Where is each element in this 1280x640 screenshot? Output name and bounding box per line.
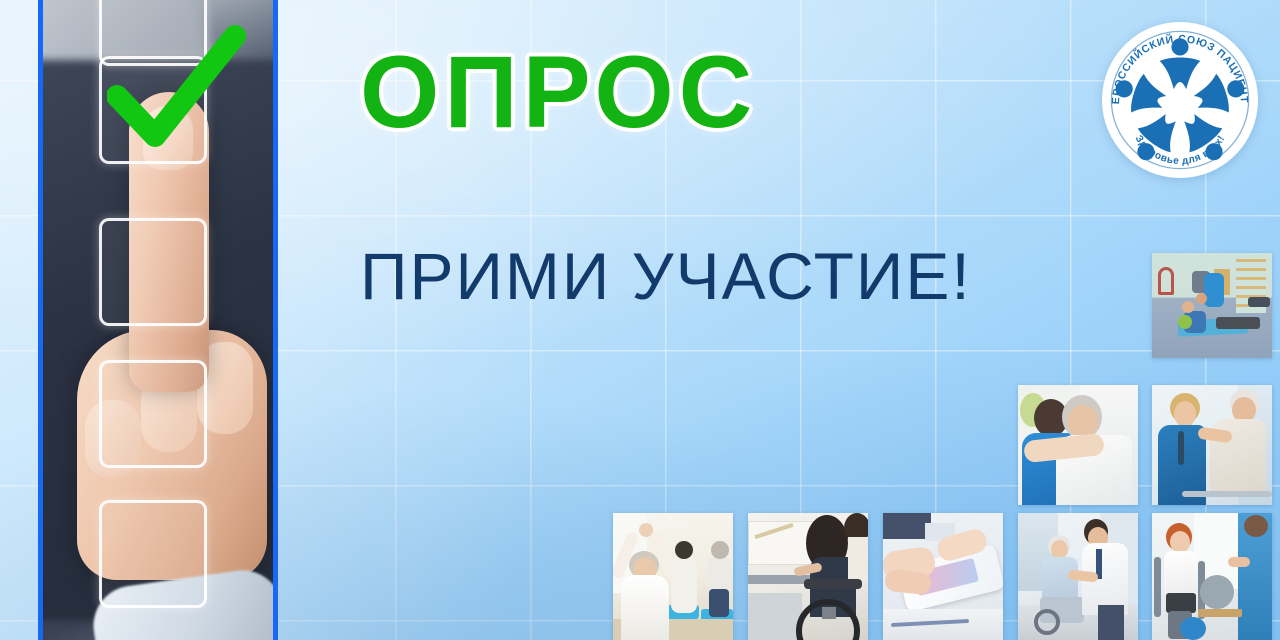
survey-checkbox-photo	[38, 0, 278, 640]
nurse-hug-photo	[1018, 385, 1138, 505]
rehab-crutches-photo	[1152, 513, 1272, 640]
physiotherapy-gym-photo	[1152, 253, 1272, 358]
checkbox-outline	[99, 500, 207, 608]
survey-banner: ОПРОС ПРИМИ УЧАСТИЕ! ВСЕРОССИЙСКИЙ СОЮЗ …	[0, 0, 1280, 640]
checkbox-outline	[99, 218, 207, 326]
wheelchair-classroom-photo	[748, 513, 868, 640]
page-subtitle: ПРИМИ УЧАСТИЕ!	[360, 238, 972, 314]
checkbox-outline	[99, 360, 207, 468]
page-title: ОПРОС	[360, 34, 757, 151]
vsp-logo[interactable]: ВСЕРОССИЙСКИЙ СОЮЗ ПАЦИЕНТОВ Здоровье дл…	[1102, 22, 1258, 178]
doctor-patient-photo	[1018, 513, 1138, 640]
senior-yoga-photo	[613, 513, 733, 640]
nurse-walker-photo	[1152, 385, 1272, 505]
tablet-hands-photo	[883, 513, 1003, 640]
green-check-icon	[107, 24, 247, 164]
